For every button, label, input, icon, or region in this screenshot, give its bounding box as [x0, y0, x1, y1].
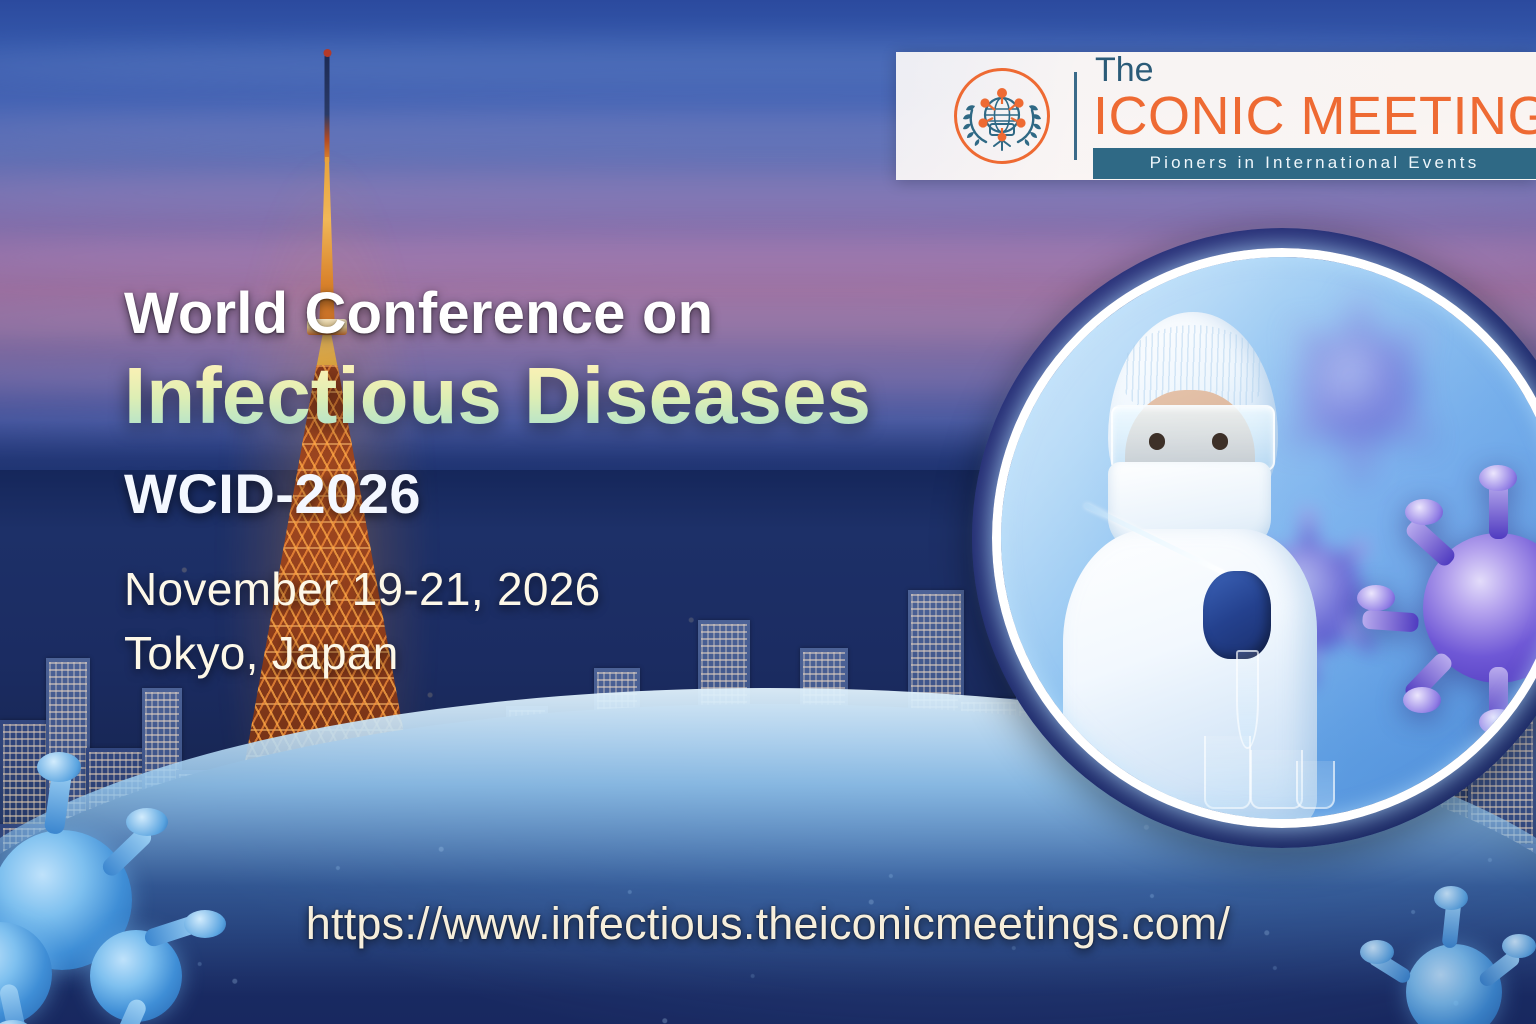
conference-dates: November 19-21, 2026 [124, 562, 1004, 616]
conference-title-line1: World Conference on [124, 284, 1004, 345]
logo-divider [1074, 72, 1077, 160]
iconic-meetings-logo-bar[interactable]: The ICONIC MEETINGS Pioners in Internati… [896, 52, 1536, 180]
conference-title-line2: Infectious Diseases [124, 353, 1004, 439]
logo-text-group: The ICONIC MEETINGS Pioners in Internati… [1093, 53, 1536, 179]
conference-acronym: WCID-2026 [124, 461, 1004, 526]
logo-tagline: Pioners in International Events [1093, 148, 1536, 179]
globe-laurel-emblem-icon [952, 66, 1052, 166]
logo-the-text: The [1095, 53, 1154, 87]
conference-text-block: World Conference on Infectious Diseases … [124, 284, 1004, 680]
logo-brand-name: ICONIC MEETINGS [1093, 89, 1536, 144]
conference-website-url[interactable]: https://www.infectious.theiconicmeetings… [0, 898, 1536, 950]
conference-banner: World Conference on Infectious Diseases … [0, 0, 1536, 1024]
virus-particle-decoration-left [0, 734, 360, 1024]
emblem-svg [952, 66, 1052, 166]
conference-location: Tokyo, Japan [124, 626, 1004, 680]
